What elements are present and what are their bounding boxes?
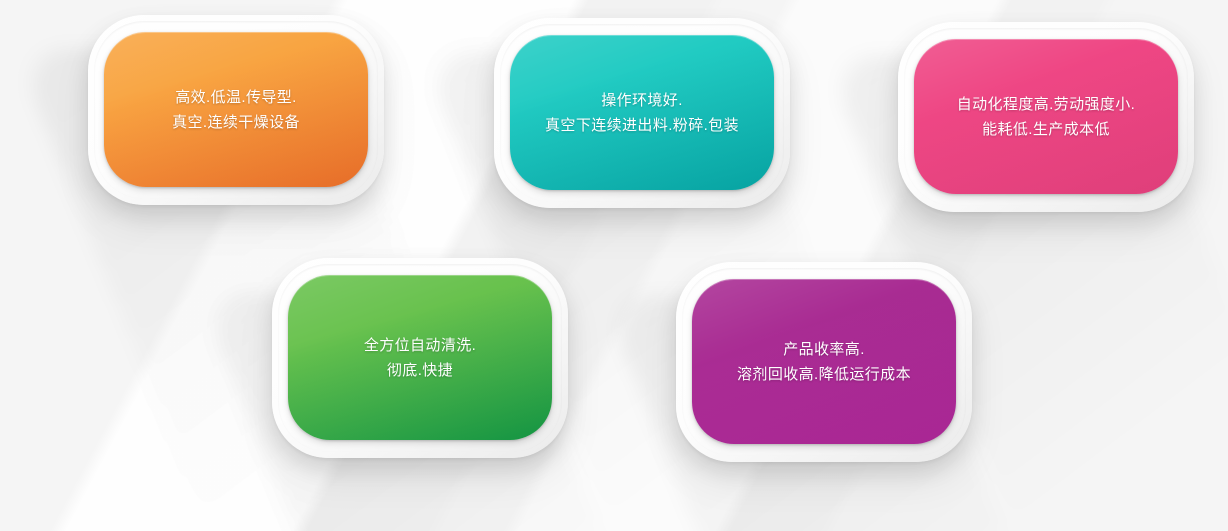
card-environment[interactable]: 操作环境好.真空下连续进出料.粉碎.包装 (494, 18, 790, 208)
infographic-canvas: 高效.低温.传导型.真空.连续干燥设备操作环境好.真空下连续进出料.粉碎.包装自… (0, 0, 1228, 531)
card-cleaning-text-line-1: 全方位自动清洗. (364, 333, 476, 358)
card-efficiency-panel: 高效.低温.传导型.真空.连续干燥设备 (104, 32, 368, 187)
card-yield-text-line-1: 产品收率高. (783, 337, 865, 362)
card-cleaning[interactable]: 全方位自动清洗.彻底.快捷 (272, 258, 568, 458)
card-environment-panel: 操作环境好.真空下连续进出料.粉碎.包装 (510, 35, 774, 190)
card-efficiency-text-line-2: 真空.连续干燥设备 (172, 110, 300, 135)
card-cleaning-panel: 全方位自动清洗.彻底.快捷 (288, 275, 552, 440)
card-environment-text-line-2: 真空下连续进出料.粉碎.包装 (545, 113, 739, 138)
card-yield-text-line-2: 溶剂回收高.降低运行成本 (737, 362, 911, 387)
card-efficiency[interactable]: 高效.低温.传导型.真空.连续干燥设备 (88, 15, 384, 205)
card-cleaning-text-line-2: 彻底.快捷 (387, 358, 453, 383)
card-environment-text-line-1: 操作环境好. (601, 88, 683, 113)
card-automation-text-line-1: 自动化程度高.劳动强度小. (957, 92, 1136, 117)
card-efficiency-text-line-1: 高效.低温.传导型. (175, 85, 297, 110)
card-automation-panel: 自动化程度高.劳动强度小.能耗低.生产成本低 (914, 39, 1178, 194)
card-automation-text-line-2: 能耗低.生产成本低 (982, 117, 1110, 142)
card-yield-panel: 产品收率高.溶剂回收高.降低运行成本 (692, 279, 956, 444)
card-automation[interactable]: 自动化程度高.劳动强度小.能耗低.生产成本低 (898, 22, 1194, 212)
card-yield[interactable]: 产品收率高.溶剂回收高.降低运行成本 (676, 262, 972, 462)
